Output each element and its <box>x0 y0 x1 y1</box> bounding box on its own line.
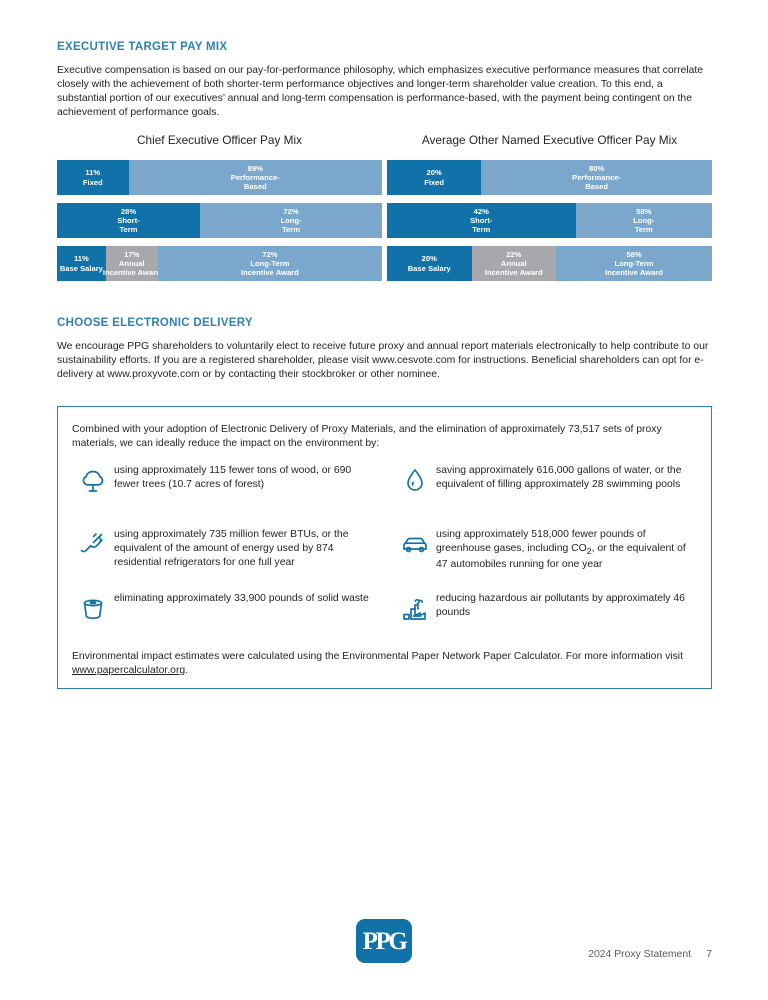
bar-segment: 20%Base Salary <box>387 246 472 281</box>
bar-segment-label: Term <box>635 225 653 234</box>
ppg-logo: PPG <box>356 919 412 963</box>
bar-segment-label: Short- <box>470 216 492 225</box>
ppg-logo-text: PPG <box>363 929 406 954</box>
bar-segment-label: Performance- <box>572 173 621 182</box>
bar-segment-label: Term <box>472 225 490 234</box>
proxy-statement-page: EXECUTIVE TARGET PAY MIX Executive compe… <box>0 0 768 1000</box>
bar-segment-percent: 20% <box>422 254 437 263</box>
bar-rows-neo: 20%Fixed80%Performance-Based42%Short-Ter… <box>387 160 712 281</box>
environmental-benefit-text: eliminating approximately 33,900 pounds … <box>114 591 369 606</box>
bar-segment-label: Term <box>282 225 300 234</box>
bar-segment-percent: 72% <box>262 250 277 259</box>
chart-neo-pay-mix: Average Other Named Executive Officer Pa… <box>387 133 712 289</box>
environmental-footnote: Environmental impact estimates were calc… <box>72 650 686 678</box>
environmental-benefit-item: saving approximately 616,000 gallons of … <box>394 463 700 527</box>
environmental-benefit-text: using approximately 115 fewer tons of wo… <box>114 463 378 492</box>
bar-segment: 11%Fixed <box>57 160 129 195</box>
bar-segment-label: Incentive Award <box>103 268 161 277</box>
environmental-benefit-item: using approximately 518,000 fewer pounds… <box>394 527 700 591</box>
bar-row: 20%Fixed80%Performance-Based <box>387 160 712 195</box>
environmental-benefit-text: reducing hazardous air pollutants by app… <box>436 591 700 620</box>
bar-segment: 58%Long-Term <box>576 203 713 238</box>
footer-page-number: 7 <box>706 949 712 960</box>
bar-segment-label: Based <box>585 182 608 191</box>
co2-subscript: 2 <box>587 546 592 556</box>
bar-segment-label: Incentive Award <box>241 268 299 277</box>
footnote-text-before: Environmental impact estimates were calc… <box>72 651 683 662</box>
bar-segment-label: Base Salary <box>408 264 451 273</box>
environmental-benefit-text: using approximately 735 million fewer BT… <box>114 527 378 570</box>
bar-rows-ceo: 11%Fixed89%Performance-Based28%Short-Ter… <box>57 160 382 281</box>
bar-segment-label: Performance- <box>231 173 280 182</box>
bar-segment: 72%Long-TermIncentive Award <box>158 246 382 281</box>
environmental-impact-box: Combined with your adoption of Electroni… <box>57 406 712 689</box>
bar-segment-label: Term <box>119 225 137 234</box>
waste-bin-icon <box>72 591 114 633</box>
bar-segment-percent: 22% <box>506 250 521 259</box>
section-heading-choose-electronic-delivery: CHOOSE ELECTRONIC DELIVERY <box>57 317 253 329</box>
bar-segment-label: Short- <box>117 216 139 225</box>
bar-row: 11%Fixed89%Performance-Based <box>57 160 382 195</box>
paper-calculator-link[interactable]: www.papercalculator.org <box>72 665 185 676</box>
bar-segment-percent: 28% <box>121 207 136 216</box>
bar-segment: 11%Base Salary <box>57 246 106 281</box>
bar-segment-label: Incentive Award <box>485 268 543 277</box>
chart-ceo-pay-mix: Chief Executive Officer Pay Mix 11%Fixed… <box>57 133 382 289</box>
environmental-benefit-text: saving approximately 616,000 gallons of … <box>436 463 700 492</box>
environmental-benefit-item: using approximately 115 fewer tons of wo… <box>72 463 378 527</box>
bar-row: 20%Base Salary22%AnnualIncentive Award58… <box>387 246 712 281</box>
environmental-intro-text: Combined with your adoption of Electroni… <box>72 423 682 451</box>
water-drop-icon <box>394 463 436 505</box>
environmental-benefits-grid: using approximately 115 fewer tons of wo… <box>72 463 700 655</box>
bar-segment-percent: 42% <box>474 207 489 216</box>
bar-segment: 17%AnnualIncentive Award <box>106 246 158 281</box>
bar-segment-percent: 58% <box>626 250 641 259</box>
chart-title-ceo-pay-mix: Chief Executive Officer Pay Mix <box>57 133 382 147</box>
bar-segment: 28%Short-Term <box>57 203 200 238</box>
bar-segment-label: Long-Term <box>614 259 653 268</box>
bar-segment: 20%Fixed <box>387 160 481 195</box>
environmental-benefit-item: using approximately 735 million fewer BT… <box>72 527 378 591</box>
bar-row: 11%Base Salary17%AnnualIncentive Award72… <box>57 246 382 281</box>
bar-segment-label: Long-Term <box>250 259 289 268</box>
bar-segment-percent: 72% <box>283 207 298 216</box>
bar-segment-percent: 58% <box>636 207 651 216</box>
bar-segment-percent: 89% <box>248 164 263 173</box>
bar-segment: 89%Performance-Based <box>129 160 383 195</box>
paragraph-electronic-delivery: We encourage PPG shareholders to volunta… <box>57 340 713 382</box>
bar-segment-label: Long- <box>280 216 301 225</box>
bar-segment-label: Based <box>244 182 267 191</box>
bar-segment: 80%Performance-Based <box>481 160 712 195</box>
bar-segment-percent: 11% <box>74 254 89 263</box>
chart-title-neo-pay-mix: Average Other Named Executive Officer Pa… <box>387 133 712 147</box>
environmental-benefit-text: using approximately 518,000 fewer pounds… <box>436 527 700 572</box>
bar-segment-percent: 80% <box>589 164 604 173</box>
bar-segment-label: Annual <box>501 259 527 268</box>
bar-segment-percent: 11% <box>85 168 100 177</box>
car-icon <box>394 527 436 569</box>
bar-segment-label: Base Salary <box>60 264 103 273</box>
bar-row: 28%Short-Term72%Long-Term <box>57 203 382 238</box>
bar-segment: 72%Long-Term <box>200 203 382 238</box>
tree-icon <box>72 463 114 505</box>
bar-segment-label: Annual <box>119 259 145 268</box>
bar-segment-percent: 17% <box>124 250 139 259</box>
bar-row: 42%Short-Term58%Long-Term <box>387 203 712 238</box>
bar-segment-percent: 20% <box>427 168 442 177</box>
bar-segment: 22%AnnualIncentive Award <box>472 246 557 281</box>
bar-segment: 58%Long-TermIncentive Award <box>556 246 712 281</box>
electric-plug-icon <box>72 527 114 569</box>
environmental-benefit-item: eliminating approximately 33,900 pounds … <box>72 591 378 655</box>
footer-document-label: 2024 Proxy Statement <box>588 949 691 960</box>
paragraph-executive-compensation: Executive compensation is based on our p… <box>57 64 705 120</box>
footnote-text-after: . <box>185 665 188 676</box>
section-heading-executive-target-pay-mix: EXECUTIVE TARGET PAY MIX <box>57 41 227 53</box>
factory-smoke-icon <box>394 591 436 633</box>
bar-segment-label: Fixed <box>83 178 103 187</box>
environmental-benefit-item: reducing hazardous air pollutants by app… <box>394 591 700 655</box>
bar-segment: 42%Short-Term <box>387 203 576 238</box>
bar-segment-label: Incentive Award <box>605 268 663 277</box>
bar-segment-label: Long- <box>633 216 654 225</box>
bar-segment-label: Fixed <box>424 178 444 187</box>
